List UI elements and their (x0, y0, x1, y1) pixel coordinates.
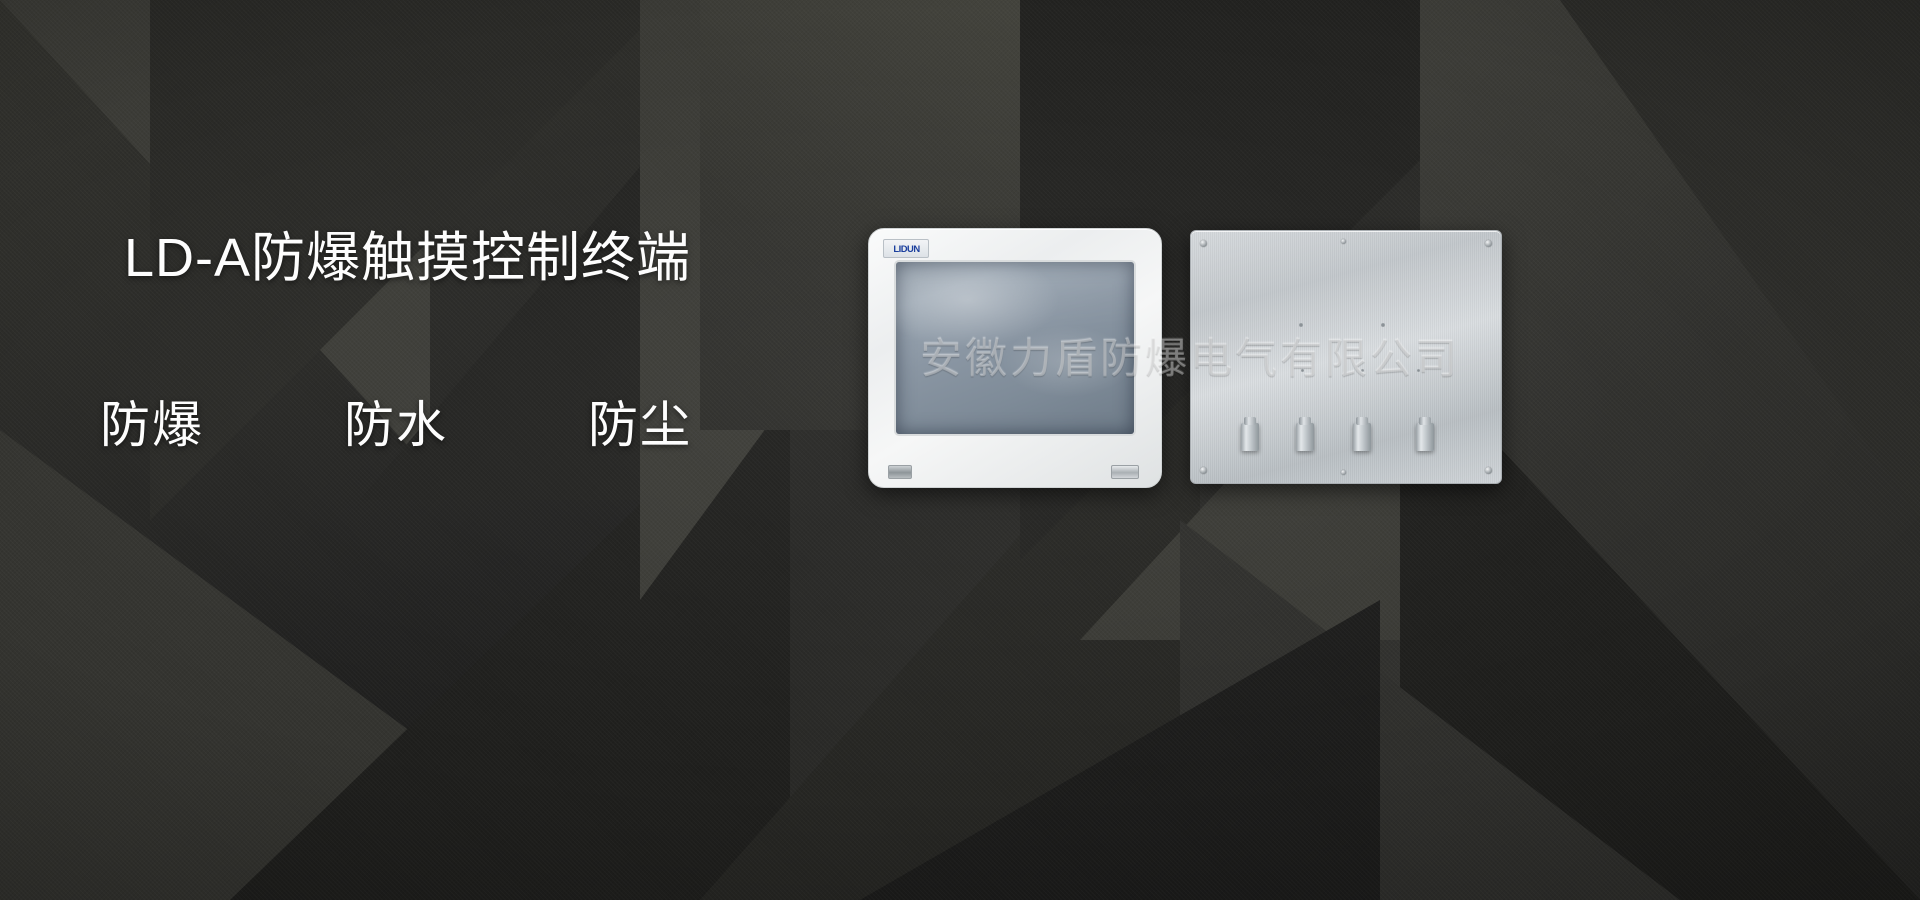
brand-logo-icon: LIDUN (883, 239, 929, 258)
feature-item-explosion-proof: 防爆 (100, 400, 204, 450)
connector-port-left (888, 465, 912, 479)
screw-icon (1341, 470, 1346, 475)
product-banner: LD-A防爆触摸控制终端 防爆 防水 防尘 LIDUN (0, 0, 1920, 900)
brand-logo-text: LIDUN (893, 244, 919, 254)
screw-icon (1341, 239, 1346, 244)
vent-hole-icon (1361, 369, 1364, 372)
vent-hole-icon (1417, 369, 1420, 372)
vent-hole-icon (1301, 369, 1304, 372)
vent-hole-icon (1299, 323, 1303, 327)
screw-icon (1485, 467, 1492, 474)
vent-hole-icon (1381, 323, 1385, 327)
feature-item-waterproof: 防水 (344, 400, 448, 450)
screw-icon (1200, 240, 1207, 247)
cable-gland-icon (1416, 423, 1434, 451)
connector-port-right (1111, 465, 1139, 479)
feature-list: 防爆 防水 防尘 (100, 400, 800, 450)
product-back-unit (1190, 230, 1502, 484)
product-image-group: LIDUN (860, 218, 1540, 498)
feature-item-dustproof: 防尘 (588, 400, 692, 450)
cable-gland-icon (1241, 423, 1259, 451)
cable-gland-icon (1296, 423, 1314, 451)
touch-screen (896, 262, 1134, 434)
screen-glare (896, 262, 1134, 434)
screw-icon (1485, 240, 1492, 247)
product-front-unit: LIDUN (868, 228, 1162, 488)
page-title: LD-A防爆触摸控制终端 (124, 231, 691, 285)
screw-icon (1200, 467, 1207, 474)
cable-gland-icon (1353, 423, 1371, 451)
